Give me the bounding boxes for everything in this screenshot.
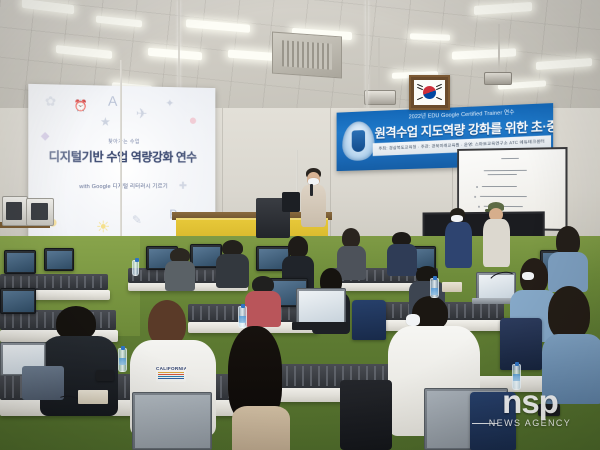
doodle-icon: ✎ — [132, 214, 142, 226]
face-mask — [522, 272, 534, 280]
desktop-monitor — [4, 250, 36, 274]
snack-package — [442, 282, 462, 292]
whiteboard-note-dot — [474, 196, 476, 198]
shirt-text: CALIFORNIA — [156, 366, 186, 371]
torso — [301, 185, 326, 227]
laptop-screen — [299, 291, 344, 322]
education-office-emblem-icon — [342, 121, 374, 161]
stripe — [158, 378, 184, 379]
doodle-icon: ✈ — [136, 106, 148, 120]
microphone — [310, 184, 313, 196]
desktop-monitor — [0, 288, 36, 314]
bottle-label — [513, 374, 520, 381]
hair — [288, 236, 308, 258]
trigram — [436, 87, 442, 91]
laptop-screen — [135, 395, 210, 448]
projector-drop-pole — [378, 38, 380, 92]
whiteboard-note-stroke — [488, 174, 517, 175]
laptop — [132, 392, 212, 450]
ceiling-projector — [484, 72, 512, 85]
korean-national-flag-taegeukgi-icon — [409, 75, 450, 110]
snack-package — [78, 390, 108, 404]
whiteboard-note-stroke — [484, 170, 527, 172]
smartphone — [96, 370, 114, 381]
laptop-keyboard — [292, 322, 348, 330]
water-bottle — [132, 260, 139, 276]
whiteboard-note-dot — [476, 186, 478, 188]
shirt-stripes — [158, 372, 184, 380]
water-bottle — [118, 348, 127, 372]
whiteboard-note-stroke — [482, 186, 517, 187]
hair — [56, 306, 96, 340]
doodle-icon: ⏰ — [74, 101, 88, 112]
hair — [342, 228, 360, 248]
smartphone — [538, 404, 560, 416]
office-chair — [340, 380, 392, 450]
office-chair — [500, 318, 542, 370]
whiteboard-note-dot — [478, 206, 480, 208]
3d-printer-window — [31, 203, 48, 220]
desktop-monitor — [44, 248, 74, 271]
torso — [245, 291, 281, 327]
projector-drop-pole — [498, 24, 500, 74]
laptop — [296, 288, 346, 324]
trigram — [417, 97, 423, 101]
water-bottle — [238, 306, 247, 328]
torso — [232, 406, 290, 450]
torso — [445, 222, 472, 268]
taegeuk-circle — [423, 86, 436, 99]
handbag — [22, 366, 64, 400]
flag-canvas — [414, 80, 445, 105]
water-bottle — [430, 278, 439, 298]
doodle-icon: ☀ — [96, 220, 110, 236]
doodle-icon: ★ — [100, 116, 111, 128]
hair — [548, 286, 590, 340]
torso — [483, 219, 510, 267]
monitor-screen — [7, 253, 34, 272]
bottle-label — [431, 288, 438, 295]
office-chair — [352, 300, 386, 340]
whiteboard-note-stroke — [480, 196, 527, 197]
doodle-icon: ✦ — [165, 99, 174, 110]
face-mask — [451, 215, 463, 222]
doodle-icon: ✿ — [45, 94, 56, 107]
face-mask — [406, 314, 420, 326]
torso — [542, 334, 600, 404]
trigram — [436, 97, 442, 101]
torso — [216, 254, 249, 288]
torso — [165, 261, 195, 291]
ceiling-air-conditioner-vent — [272, 32, 342, 79]
whiteboard-note-stroke — [501, 158, 519, 160]
doodle-icon: ● — [189, 113, 198, 128]
monitor-screen — [47, 251, 72, 269]
classroom-photo: ✿ ⏰ A ✈ ★ ✦ ● ◆ ● ☀ ✎ B ♪ ✚ 찾아가는 수업 디지털기… — [0, 0, 600, 450]
bottle-label — [239, 316, 246, 323]
torso — [387, 244, 417, 276]
lectern-monitor — [282, 192, 300, 212]
doodle-icon: A — [108, 94, 117, 108]
office-chair — [470, 392, 516, 450]
bottle-label — [119, 358, 126, 365]
glass-partition-mullion — [366, 0, 368, 118]
torso — [337, 246, 366, 280]
ceiling-projector — [364, 90, 396, 105]
3d-printer-window — [6, 202, 22, 220]
monitor-screen — [3, 291, 34, 312]
water-bottle — [512, 364, 521, 390]
shirt-graphic: CALIFORNIA — [156, 366, 186, 382]
